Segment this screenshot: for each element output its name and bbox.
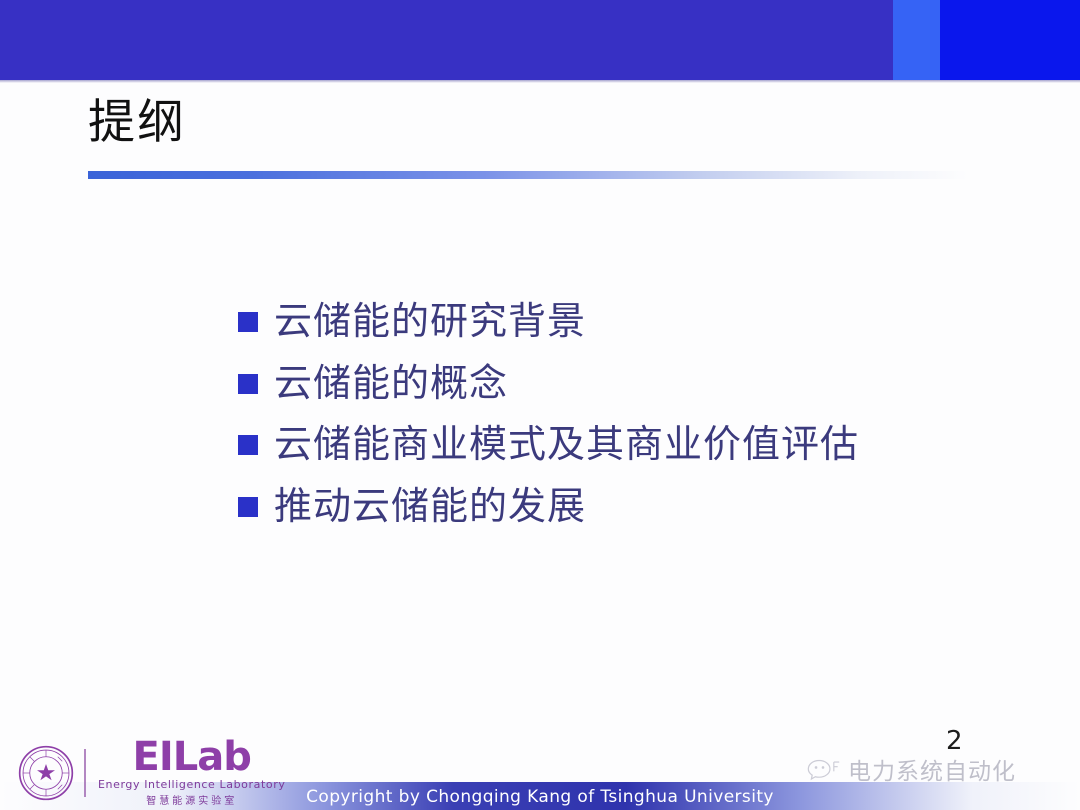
list-item-label: 云储能的研究背景 [274,300,586,344]
watermark-label: 电力系统自动化 [848,752,1016,786]
eilab-subtitle-en: Energy Intelligence Laboratory [98,778,285,791]
wechat-watermark: 电力系统自动化 [806,752,1016,786]
list-item-label: 推动云储能的发展 [274,485,586,529]
eilab-logo: EILab Energy Intelligence Laboratory 智慧能… [98,738,285,807]
square-bullet-icon [238,497,258,517]
list-item-label: 云储能的概念 [274,362,508,406]
list-item: 云储能的研究背景 [238,300,1018,344]
list-item: 云储能商业模式及其商业价值评估 [238,423,1018,467]
list-item-label: 云储能商业模式及其商业价值评估 [274,423,859,467]
outline-bullet-list: 云储能的研究背景 云储能的概念 云储能商业模式及其商业价值评估 推动云储能的发展 [238,300,1018,547]
tsinghua-seal-icon [18,745,74,801]
square-bullet-icon [238,435,258,455]
title-underline-rule [88,171,968,179]
eilab-subtitle-cn: 智慧能源实验室 [146,792,237,807]
header-band-segment-main [0,0,893,80]
logo-divider [84,749,86,797]
square-bullet-icon [238,312,258,332]
wechat-icon [806,755,840,783]
header-band-segment-bright [940,0,1080,80]
header-shadow [0,80,1080,83]
header-band [0,0,1080,80]
list-item: 云储能的概念 [238,362,1018,406]
header-band-segment-light [893,0,940,80]
footer-logo-group: EILab Energy Intelligence Laboratory 智慧能… [18,738,285,807]
eilab-wordmark: EILab [133,738,251,776]
page-title: 提纲 [88,97,186,149]
presentation-slide: 提纲 云储能的研究背景 云储能的概念 云储能商业模式及其商业价值评估 推动云储能… [0,0,1080,810]
square-bullet-icon [238,374,258,394]
list-item: 推动云储能的发展 [238,485,1018,529]
